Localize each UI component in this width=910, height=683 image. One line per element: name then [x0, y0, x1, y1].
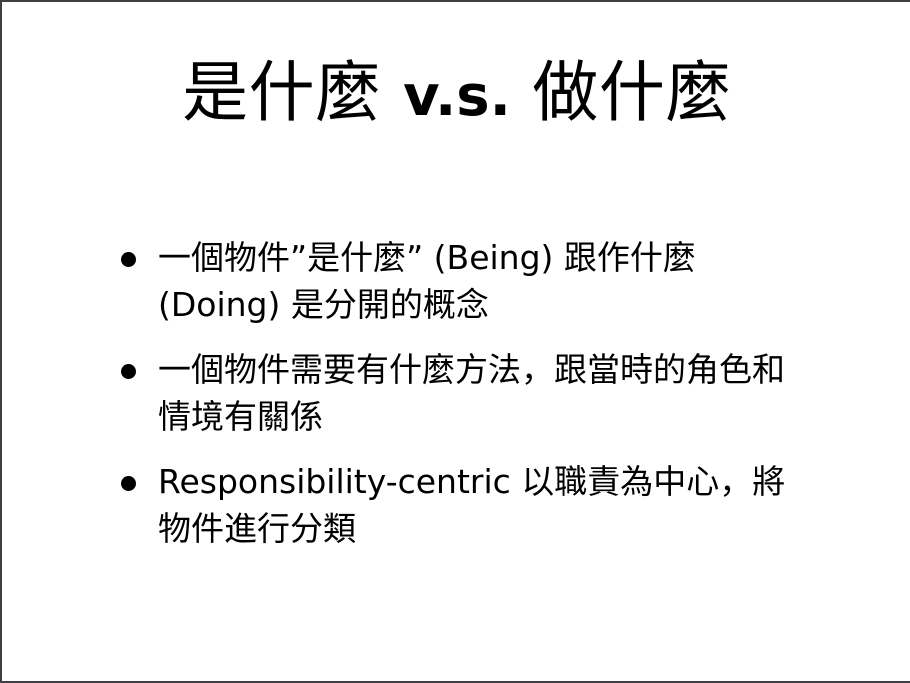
bullet-list: 一個物件”是什麼” (Being) 跟作什麼 (Doing) 是分開的概念 一個… — [114, 234, 814, 552]
presentation-slide: 是什麼 v.s. 做什麼 一個物件”是什麼” (Being) 跟作什麼 (Doi… — [0, 0, 910, 683]
bullet-text: Responsibility-centric 以職責為中心，將物件進行分類 — [158, 458, 814, 552]
slide-title-latin: v.s. — [403, 64, 511, 129]
bullet-text: 一個物件需要有什麼方法，跟當時的角色和情境有關係 — [158, 346, 814, 440]
bullet-point-icon — [121, 364, 136, 379]
list-item: Responsibility-centric 以職責為中心，將物件進行分類 — [114, 458, 814, 552]
list-item: 一個物件”是什麼” (Being) 跟作什麼 (Doing) 是分開的概念 — [114, 234, 814, 328]
bullet-text: 一個物件”是什麼” (Being) 跟作什麼 (Doing) 是分開的概念 — [158, 234, 814, 328]
bullet-point-icon — [121, 476, 136, 491]
slide-title: 是什麼 v.s. 做什麼 — [2, 54, 910, 136]
slide-title-cjk-right: 做什麼 — [511, 54, 732, 131]
bullet-point-icon — [121, 252, 136, 267]
slide-title-cjk-left: 是什麼 — [182, 54, 403, 131]
list-item: 一個物件需要有什麼方法，跟當時的角色和情境有關係 — [114, 346, 814, 440]
